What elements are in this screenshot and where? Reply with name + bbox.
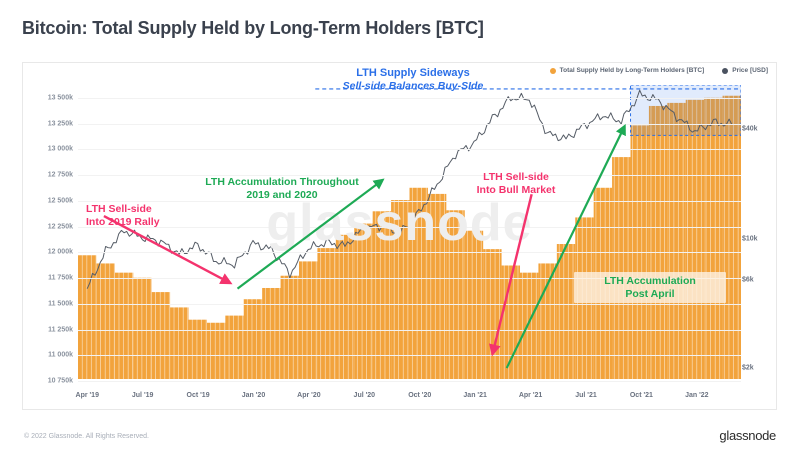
annotation-sell-bull-line2: Into Bull Market (441, 184, 591, 197)
lth-accumulation-post-april-arrow (507, 127, 625, 368)
y-axis-tick-left: 11 250k (23, 326, 73, 333)
plot-area (78, 85, 741, 379)
y-axis-tick-left: 11 750k (23, 275, 73, 282)
x-axis-tick: Apr '20 (297, 392, 320, 399)
page-title: Bitcoin: Total Supply Held by Long-Term … (22, 18, 484, 39)
x-axis-tick: Jan '22 (685, 392, 708, 399)
x-axis-tick: Jan '20 (242, 392, 265, 399)
y-axis-tick-left: 13 000k (23, 146, 73, 153)
gridline (78, 381, 741, 382)
annotation-sell-2019-line1: LTH Sell-side (86, 203, 160, 216)
annotation-sideways-line1: LTH Supply Sideways (293, 67, 533, 80)
annotation-post-april-line1: LTH Accumulation (582, 275, 718, 288)
legend-item-supply[interactable]: Total Supply Held by Long-Term Holders [… (550, 67, 705, 74)
y-axis-tick-left: 13 250k (23, 120, 73, 127)
annotation-lth-sell-side-bull: LTH Sell-side Into Bull Market (441, 171, 591, 196)
legend-label-supply: Total Supply Held by Long-Term Holders [… (560, 67, 705, 74)
annotation-sell-bull-line1: LTH Sell-side (441, 171, 591, 184)
annotation-accum-line1: LTH Accumulation Throughout (167, 176, 397, 189)
legend-label-price: Price [USD] (732, 67, 768, 74)
x-axis-tick: Jan '21 (463, 392, 486, 399)
x-axis-tick: Apr '21 (519, 392, 542, 399)
y-axis-tick-left: 11 000k (23, 352, 73, 359)
annotation-sideways-line2: Sell-side Balances Buy-SIde (293, 80, 533, 93)
annotation-accum-line2: 2019 and 2020 (167, 189, 397, 202)
y-axis-tick-right: $40k (742, 125, 774, 132)
x-axis-tick: Jul '19 (132, 392, 154, 399)
y-axis-tick-left: 12 750k (23, 172, 73, 179)
chart-page: Bitcoin: Total Supply Held by Long-Term … (0, 0, 800, 461)
x-axis-tick: Apr '19 (76, 392, 99, 399)
y-axis-tick-left: 11 500k (23, 300, 73, 307)
y-axis-tick-right: $6k (742, 277, 774, 284)
annotation-arrows-svg (78, 85, 741, 379)
annotation-lth-supply-sideways: LTH Supply Sideways Sell-side Balances B… (293, 67, 533, 93)
legend-item-price[interactable]: Price [USD] (722, 67, 768, 74)
y-axis-tick-right: $10k (742, 236, 774, 243)
x-axis-tick: Oct '19 (187, 392, 210, 399)
x-axis-tick: Jul '20 (354, 392, 376, 399)
x-axis-tick: Oct '20 (408, 392, 431, 399)
y-axis-tick-left: 12 250k (23, 223, 73, 230)
x-axis-tick: Oct '21 (630, 392, 653, 399)
annotation-lth-sell-side-2019: LTH Sell-side Into 2019 Rally (86, 203, 160, 228)
y-axis-tick-left: 10 750k (23, 378, 73, 385)
annotation-sell-2019-line2: Into 2019 Rally (86, 216, 160, 229)
dark-dot-icon (722, 68, 728, 74)
orange-dot-icon (550, 68, 556, 74)
annotation-post-april-line2: Post April (582, 288, 718, 301)
y-axis-tick-left: 12 500k (23, 197, 73, 204)
footer-copyright: © 2022 Glassnode. All Rights Reserved. (24, 433, 149, 440)
y-axis-tick-right: $2k (742, 365, 774, 372)
chart-legend: Total Supply Held by Long-Term Holders [… (550, 67, 768, 74)
annotation-lth-accumulation-post-april: LTH Accumulation Post April (574, 272, 726, 303)
y-axis-tick-left: 12 000k (23, 249, 73, 256)
x-axis-tick: Jul '21 (575, 392, 597, 399)
y-axis-tick-left: 13 500k (23, 94, 73, 101)
annotation-lth-accumulation: LTH Accumulation Throughout 2019 and 202… (167, 176, 397, 201)
footer-glassnode-logo: glassnode (719, 428, 776, 443)
chart-panel: Total Supply Held by Long-Term Holders [… (22, 62, 777, 410)
